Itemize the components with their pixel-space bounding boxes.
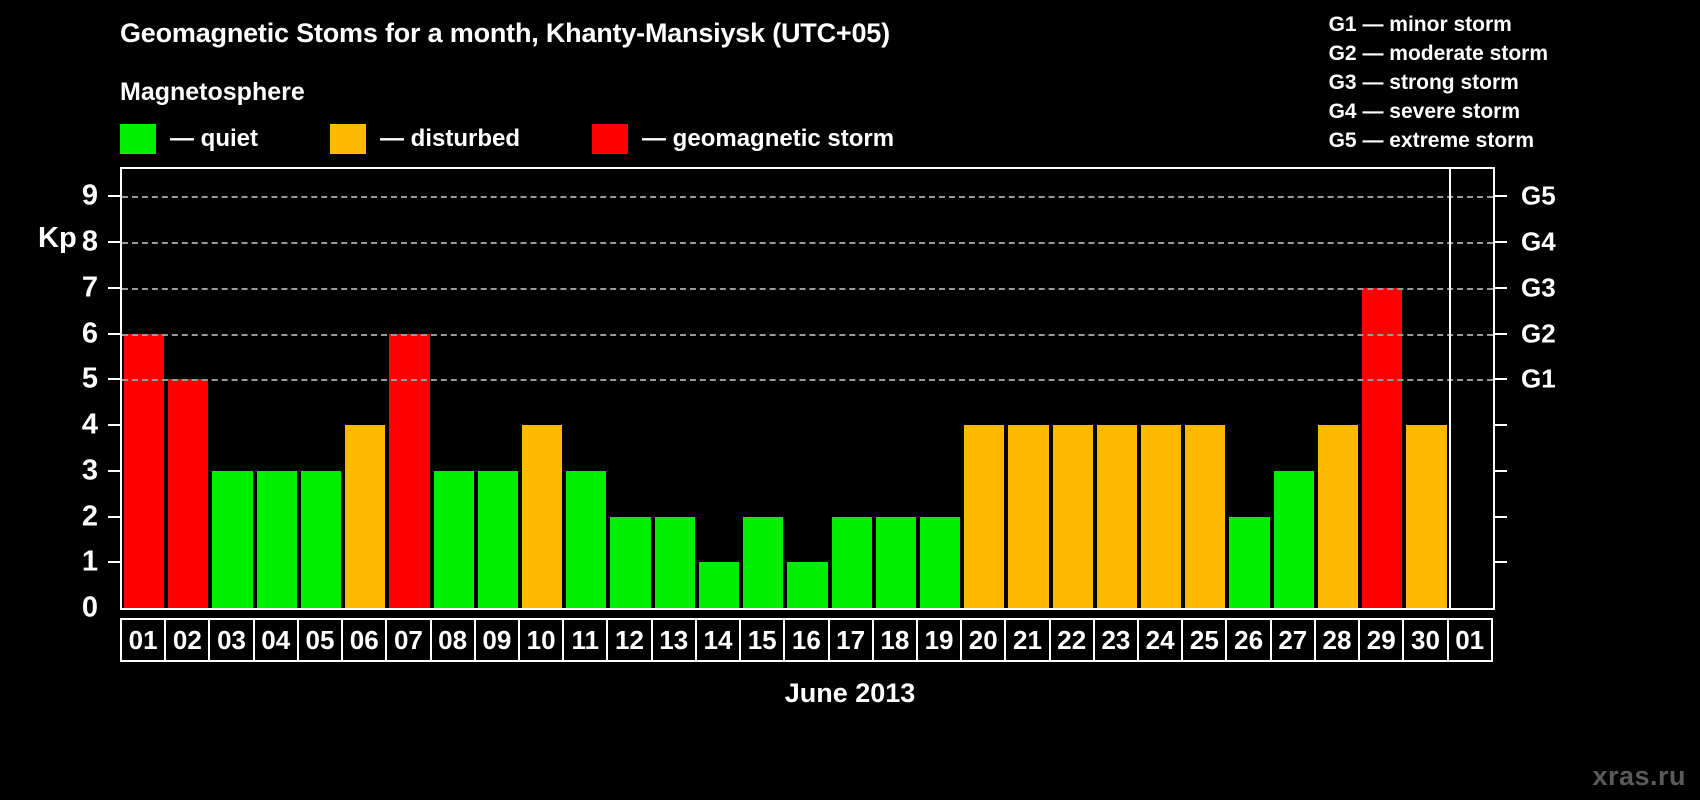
y-tick-label-8: 8 (82, 226, 98, 259)
day-label: 06 (350, 627, 379, 653)
page-title: Geomagnetic Stoms for a month, Khanty-Ma… (120, 18, 890, 49)
day-label: 11 (572, 627, 600, 653)
g-tick-mark-minor-1 (1495, 561, 1507, 563)
day-box-21[interactable]: 21 (1004, 618, 1050, 662)
g-tick-label-g5: G5 (1521, 181, 1556, 212)
bar-slot[interactable] (1139, 169, 1183, 608)
day-label: 16 (792, 627, 821, 653)
y-tick-mark-6 (108, 333, 120, 335)
bar-day-22[interactable] (1051, 425, 1095, 608)
y-tick-label-2: 2 (82, 500, 98, 533)
bar-day-08[interactable] (432, 471, 476, 608)
bar-day-02[interactable] (166, 379, 210, 608)
y-tick-mark-7 (108, 287, 120, 289)
bar-day-12[interactable] (608, 517, 652, 608)
bar-day-10[interactable] (520, 425, 564, 608)
day-label: 05 (306, 627, 335, 653)
day-box-13[interactable]: 13 (651, 618, 697, 662)
bar-slot[interactable] (608, 169, 652, 608)
g-tick-mark-g3 (1495, 287, 1507, 289)
g-tick-label-g1: G1 (1521, 364, 1556, 395)
y-tick-mark-4 (108, 424, 120, 426)
day-label: 24 (1146, 627, 1175, 653)
bar-day-13[interactable] (653, 517, 697, 608)
gridline-kp-6 (122, 334, 1493, 336)
bar-slot[interactable] (255, 169, 299, 608)
bar-day-04[interactable] (255, 471, 299, 608)
y-tick-mark-1 (108, 561, 120, 563)
day-label: 23 (1101, 627, 1130, 653)
day-box-06[interactable]: 06 (341, 618, 387, 662)
bar-slot[interactable] (918, 169, 962, 608)
bar-slot[interactable] (1227, 169, 1271, 608)
legend-item-quiet: — quiet (120, 122, 258, 156)
gscale-line-g4: G4 — severe storm (1329, 97, 1548, 126)
bar-day-06[interactable] (343, 425, 387, 608)
gscale-line-g5: G5 — extreme storm (1329, 126, 1548, 155)
bar-slot[interactable] (476, 169, 520, 608)
day-box-24[interactable]: 24 (1137, 618, 1183, 662)
bars-container (122, 169, 1493, 608)
watermark: xras.ru (1592, 761, 1686, 792)
day-box-05[interactable]: 05 (297, 618, 343, 662)
day-label: 03 (217, 627, 246, 653)
bar-slot[interactable] (166, 169, 210, 608)
bar-slot[interactable] (697, 169, 741, 608)
g-tick-mark-g5 (1495, 195, 1507, 197)
y-tick-mark-3 (108, 470, 120, 472)
day-box-02[interactable]: 02 (164, 618, 210, 662)
gscale-line-g2: G2 — moderate storm (1329, 39, 1548, 68)
day-box-30[interactable]: 30 (1402, 618, 1448, 662)
legend-swatch-storm (592, 124, 628, 154)
bar-day-30[interactable] (1404, 425, 1448, 608)
bar-slot[interactable] (1272, 169, 1316, 608)
day-label: 28 (1323, 627, 1352, 653)
bar-slot[interactable] (387, 169, 431, 608)
gridline-kp-8 (122, 242, 1493, 244)
day-label: 20 (969, 627, 998, 653)
day-label: 09 (482, 627, 511, 653)
legend-label-disturbed: — disturbed (380, 125, 520, 153)
legend-heading: Magnetosphere (120, 78, 305, 107)
day-box-15[interactable]: 15 (739, 618, 785, 662)
g-tick-mark-g1 (1495, 378, 1507, 380)
day-box-12[interactable]: 12 (606, 618, 652, 662)
day-box-23[interactable]: 23 (1093, 618, 1139, 662)
bar-slot[interactable] (741, 169, 785, 608)
bar-slot[interactable] (1183, 169, 1227, 608)
bar-slot[interactable] (1051, 169, 1095, 608)
g-axis: G1G2G3G4G5 (1495, 167, 1700, 610)
g-tick-mark-minor-3 (1495, 470, 1507, 472)
day-label: 01 (129, 627, 158, 653)
bar-slot[interactable] (1316, 169, 1360, 608)
y-tick-mark-2 (108, 516, 120, 518)
legend-swatch-quiet (120, 124, 156, 154)
bar-day-20[interactable] (962, 425, 1006, 608)
day-box-14[interactable]: 14 (695, 618, 741, 662)
day-box-27[interactable]: 27 (1270, 618, 1316, 662)
day-label: 18 (880, 627, 909, 653)
day-label: 13 (659, 627, 688, 653)
bar-slot[interactable] (1449, 169, 1493, 608)
day-box-04[interactable]: 04 (253, 618, 299, 662)
g-tick-mark-minor-4 (1495, 424, 1507, 426)
x-axis-title: June 2013 (0, 678, 1700, 709)
bar-slot[interactable] (1095, 169, 1139, 608)
day-box-26[interactable]: 26 (1225, 618, 1271, 662)
plot-inner (122, 169, 1493, 608)
day-box-17[interactable]: 17 (828, 618, 874, 662)
g-tick-label-g4: G4 (1521, 227, 1556, 258)
day-label: 15 (748, 627, 777, 653)
month-separator (1449, 169, 1451, 608)
y-tick-mark-5 (108, 378, 120, 380)
bar-day-07[interactable] (387, 334, 431, 608)
day-box-07[interactable]: 07 (385, 618, 431, 662)
g-tick-mark-minor-2 (1495, 516, 1507, 518)
bar-day-09[interactable] (476, 471, 520, 608)
g-tick-mark-g4 (1495, 241, 1507, 243)
gscale-legend: G1 — minor storm G2 — moderate storm G3 … (1329, 10, 1548, 155)
day-label: 01 (1455, 627, 1484, 653)
bar-slot[interactable] (299, 169, 343, 608)
bar-slot[interactable] (962, 169, 1006, 608)
bar-day-24[interactable] (1139, 425, 1183, 608)
day-label: 26 (1234, 627, 1263, 653)
day-label: 22 (1057, 627, 1086, 653)
bar-slot[interactable] (520, 169, 564, 608)
day-box-20[interactable]: 20 (960, 618, 1006, 662)
day-label: 17 (836, 627, 865, 653)
bar-slot[interactable] (1404, 169, 1448, 608)
bar-day-03[interactable] (210, 471, 254, 608)
legend-item-disturbed: — disturbed (330, 122, 520, 156)
bar-slot[interactable] (1360, 169, 1404, 608)
plot-area (120, 167, 1495, 610)
bar-slot[interactable] (785, 169, 829, 608)
day-box-22[interactable]: 22 (1049, 618, 1095, 662)
gridline-kp-5 (122, 379, 1493, 381)
day-box-16[interactable]: 16 (783, 618, 829, 662)
day-label: 27 (1278, 627, 1307, 653)
y-tick-label-7: 7 (82, 271, 98, 304)
bar-day-17[interactable] (830, 517, 874, 608)
day-label: 25 (1190, 627, 1219, 653)
day-box-25[interactable]: 25 (1181, 618, 1227, 662)
y-tick-label-6: 6 (82, 317, 98, 350)
day-label: 19 (925, 627, 954, 653)
day-box-28[interactable]: 28 (1314, 618, 1360, 662)
day-label: 07 (394, 627, 423, 653)
bar-slot[interactable] (1006, 169, 1050, 608)
gscale-line-g1: G1 — minor storm (1329, 10, 1548, 39)
bar-day-21[interactable] (1006, 425, 1050, 608)
day-label: 21 (1013, 627, 1042, 653)
day-label: 10 (527, 627, 556, 653)
day-box-29[interactable]: 29 (1358, 618, 1404, 662)
g-tick-label-g2: G2 (1521, 318, 1556, 349)
bar-day-25[interactable] (1183, 425, 1227, 608)
day-box-08[interactable]: 08 (430, 618, 476, 662)
day-label: 02 (173, 627, 202, 653)
y-axis-title: Kp (38, 222, 77, 255)
y-tick-label-1: 1 (82, 546, 98, 579)
legend-item-storm: — geomagnetic storm (592, 122, 894, 156)
bar-day-19[interactable] (918, 517, 962, 608)
y-tick-label-0: 0 (82, 592, 98, 625)
day-box-09[interactable]: 09 (474, 618, 520, 662)
day-box-10[interactable]: 10 (518, 618, 564, 662)
y-tick-label-5: 5 (82, 363, 98, 396)
bar-slot[interactable] (830, 169, 874, 608)
bar-day-05[interactable] (299, 471, 343, 608)
day-box-03[interactable]: 03 (208, 618, 254, 662)
bar-day-01[interactable] (122, 334, 166, 608)
bar-slot[interactable] (564, 169, 608, 608)
legend-label-quiet: — quiet (170, 125, 258, 153)
day-label: 29 (1367, 627, 1396, 653)
bar-slot[interactable] (874, 169, 918, 608)
day-box-01[interactable]: 01 (120, 618, 166, 662)
legend-swatch-disturbed (330, 124, 366, 154)
bar-slot[interactable] (210, 169, 254, 608)
day-box-19[interactable]: 19 (916, 618, 962, 662)
day-label: 30 (1411, 627, 1440, 653)
y-tick-mark-9 (108, 195, 120, 197)
y-tick-label-4: 4 (82, 409, 98, 442)
legend: — quiet — disturbed — geomagnetic storm (120, 122, 894, 156)
day-box-11[interactable]: 11 (562, 618, 608, 662)
bar-day-18[interactable] (874, 517, 918, 608)
bar-day-27[interactable] (1272, 471, 1316, 608)
day-label: 08 (438, 627, 467, 653)
bar-day-11[interactable] (564, 471, 608, 608)
bar-day-29[interactable] (1360, 288, 1404, 608)
day-box-18[interactable]: 18 (872, 618, 918, 662)
bar-slot[interactable] (653, 169, 697, 608)
bar-slot[interactable] (122, 169, 166, 608)
y-tick-label-9: 9 (82, 180, 98, 213)
bar-day-26[interactable] (1227, 517, 1271, 608)
gscale-line-g3: G3 — strong storm (1329, 68, 1548, 97)
day-label: 12 (615, 627, 644, 653)
day-box-next-month[interactable]: 01 (1447, 618, 1493, 662)
bar-slot[interactable] (343, 169, 387, 608)
day-label: 14 (703, 627, 732, 653)
bar-day-15[interactable] (741, 517, 785, 608)
gridline-kp-9 (122, 196, 1493, 198)
g-tick-label-g3: G3 (1521, 272, 1556, 303)
bar-day-28[interactable] (1316, 425, 1360, 608)
bar-day-23[interactable] (1095, 425, 1139, 608)
y-tick-mark-8 (108, 241, 120, 243)
bar-slot[interactable] (432, 169, 476, 608)
day-label: 04 (261, 627, 290, 653)
bar-day-16[interactable] (785, 562, 829, 608)
bar-day-14[interactable] (697, 562, 741, 608)
x-axis: 0102030405060708091011121314151617181920… (120, 618, 1495, 662)
y-tick-label-3: 3 (82, 454, 98, 487)
gridline-kp-7 (122, 288, 1493, 290)
legend-label-storm: — geomagnetic storm (642, 125, 894, 153)
g-tick-mark-g2 (1495, 333, 1507, 335)
